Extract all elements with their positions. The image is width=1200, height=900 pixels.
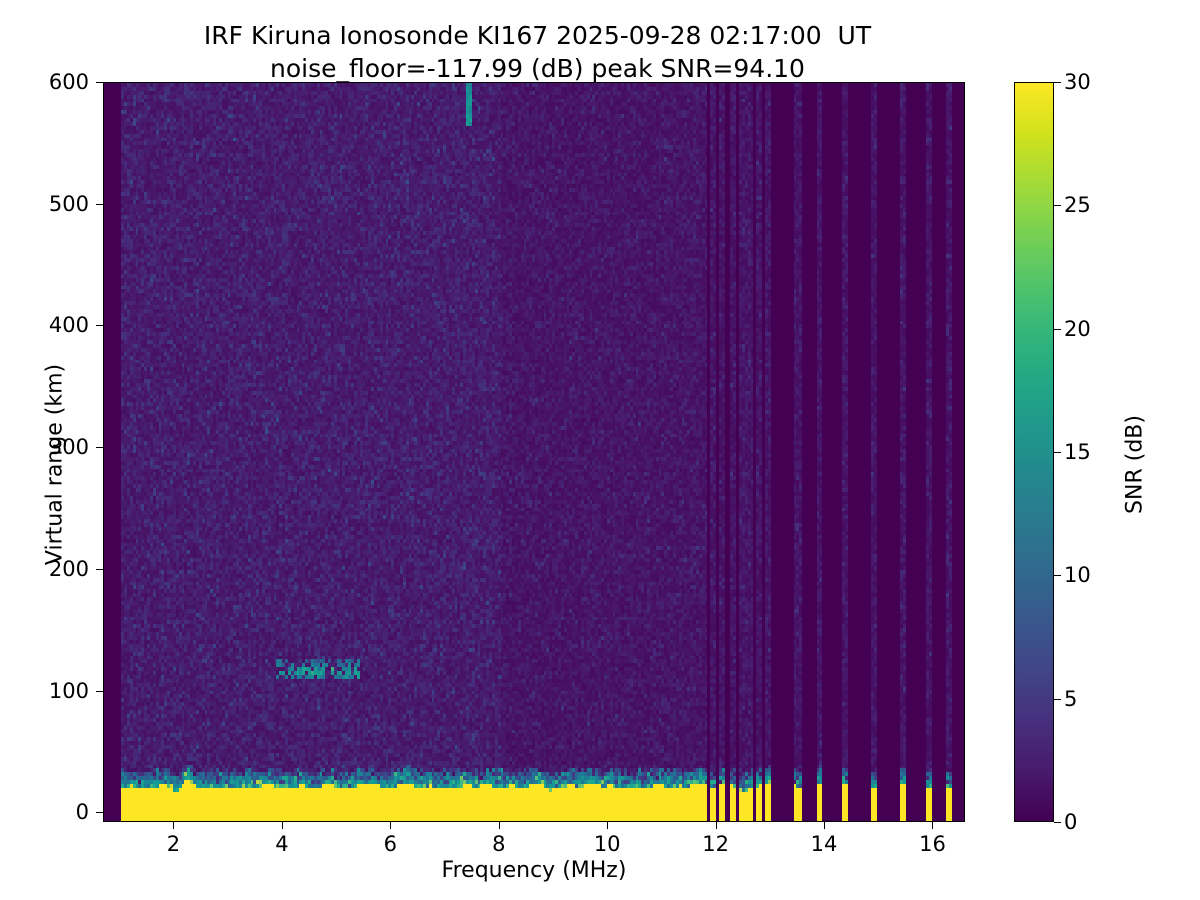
x-tick-label: 4 (275, 832, 288, 856)
colorbar-tick-label: 20 (1064, 317, 1091, 341)
chart-title: IRF Kiruna Ionosonde KI167 2025-09-28 02… (0, 20, 1075, 85)
colorbar-tick-label: 0 (1064, 810, 1077, 834)
y-tick-label: 500 (49, 192, 89, 216)
x-tick-label: 8 (492, 832, 505, 856)
ionogram-figure: IRF Kiruna Ionosonde KI167 2025-09-28 02… (0, 0, 1200, 900)
x-tick-mark (390, 822, 391, 829)
y-tick-label: 0 (76, 800, 89, 824)
y-axis-label: Virtual range (km) (43, 265, 68, 665)
colorbar-tick-mark (1054, 699, 1061, 700)
colorbar (1014, 82, 1054, 822)
x-tick-label: 12 (702, 832, 729, 856)
colorbar-gradient (1015, 83, 1053, 821)
x-tick-mark (607, 822, 608, 829)
x-tick-label: 2 (167, 832, 180, 856)
y-tick-mark (96, 325, 103, 326)
colorbar-tick-label: 10 (1064, 563, 1091, 587)
colorbar-tick-label: 25 (1064, 193, 1091, 217)
ionogram-axes (103, 82, 965, 822)
x-tick-mark (824, 822, 825, 829)
y-tick-mark (96, 82, 103, 83)
colorbar-label: SNR (dB) (1123, 315, 1148, 615)
y-tick-mark (96, 204, 103, 205)
colorbar-tick-mark (1054, 82, 1061, 83)
x-tick-mark (499, 822, 500, 829)
x-tick-label: 10 (594, 832, 621, 856)
y-tick-label: 600 (49, 70, 89, 94)
title-line-2: noise_floor=-117.99 (dB) peak SNR=94.10 (0, 53, 1075, 86)
colorbar-tick-mark (1054, 329, 1061, 330)
ionogram-heatmap (104, 83, 965, 822)
colorbar-tick-mark (1054, 452, 1061, 453)
colorbar-tick-mark (1054, 822, 1061, 823)
y-tick-mark (96, 691, 103, 692)
colorbar-tick-label: 15 (1064, 440, 1091, 464)
title-line-1: IRF Kiruna Ionosonde KI167 2025-09-28 02… (0, 20, 1075, 53)
colorbar-tick-mark (1054, 575, 1061, 576)
x-tick-label: 14 (811, 832, 838, 856)
y-tick-mark (96, 812, 103, 813)
colorbar-tick-mark (1054, 205, 1061, 206)
y-tick-label: 100 (49, 679, 89, 703)
x-tick-mark (716, 822, 717, 829)
x-tick-mark (282, 822, 283, 829)
x-tick-mark (173, 822, 174, 829)
x-tick-mark (932, 822, 933, 829)
y-tick-mark (96, 447, 103, 448)
y-tick-mark (96, 569, 103, 570)
colorbar-tick-label: 5 (1064, 687, 1077, 711)
x-tick-label: 16 (919, 832, 946, 856)
x-tick-label: 6 (384, 832, 397, 856)
x-axis-label: Frequency (MHz) (103, 858, 965, 883)
colorbar-tick-label: 30 (1064, 70, 1091, 94)
